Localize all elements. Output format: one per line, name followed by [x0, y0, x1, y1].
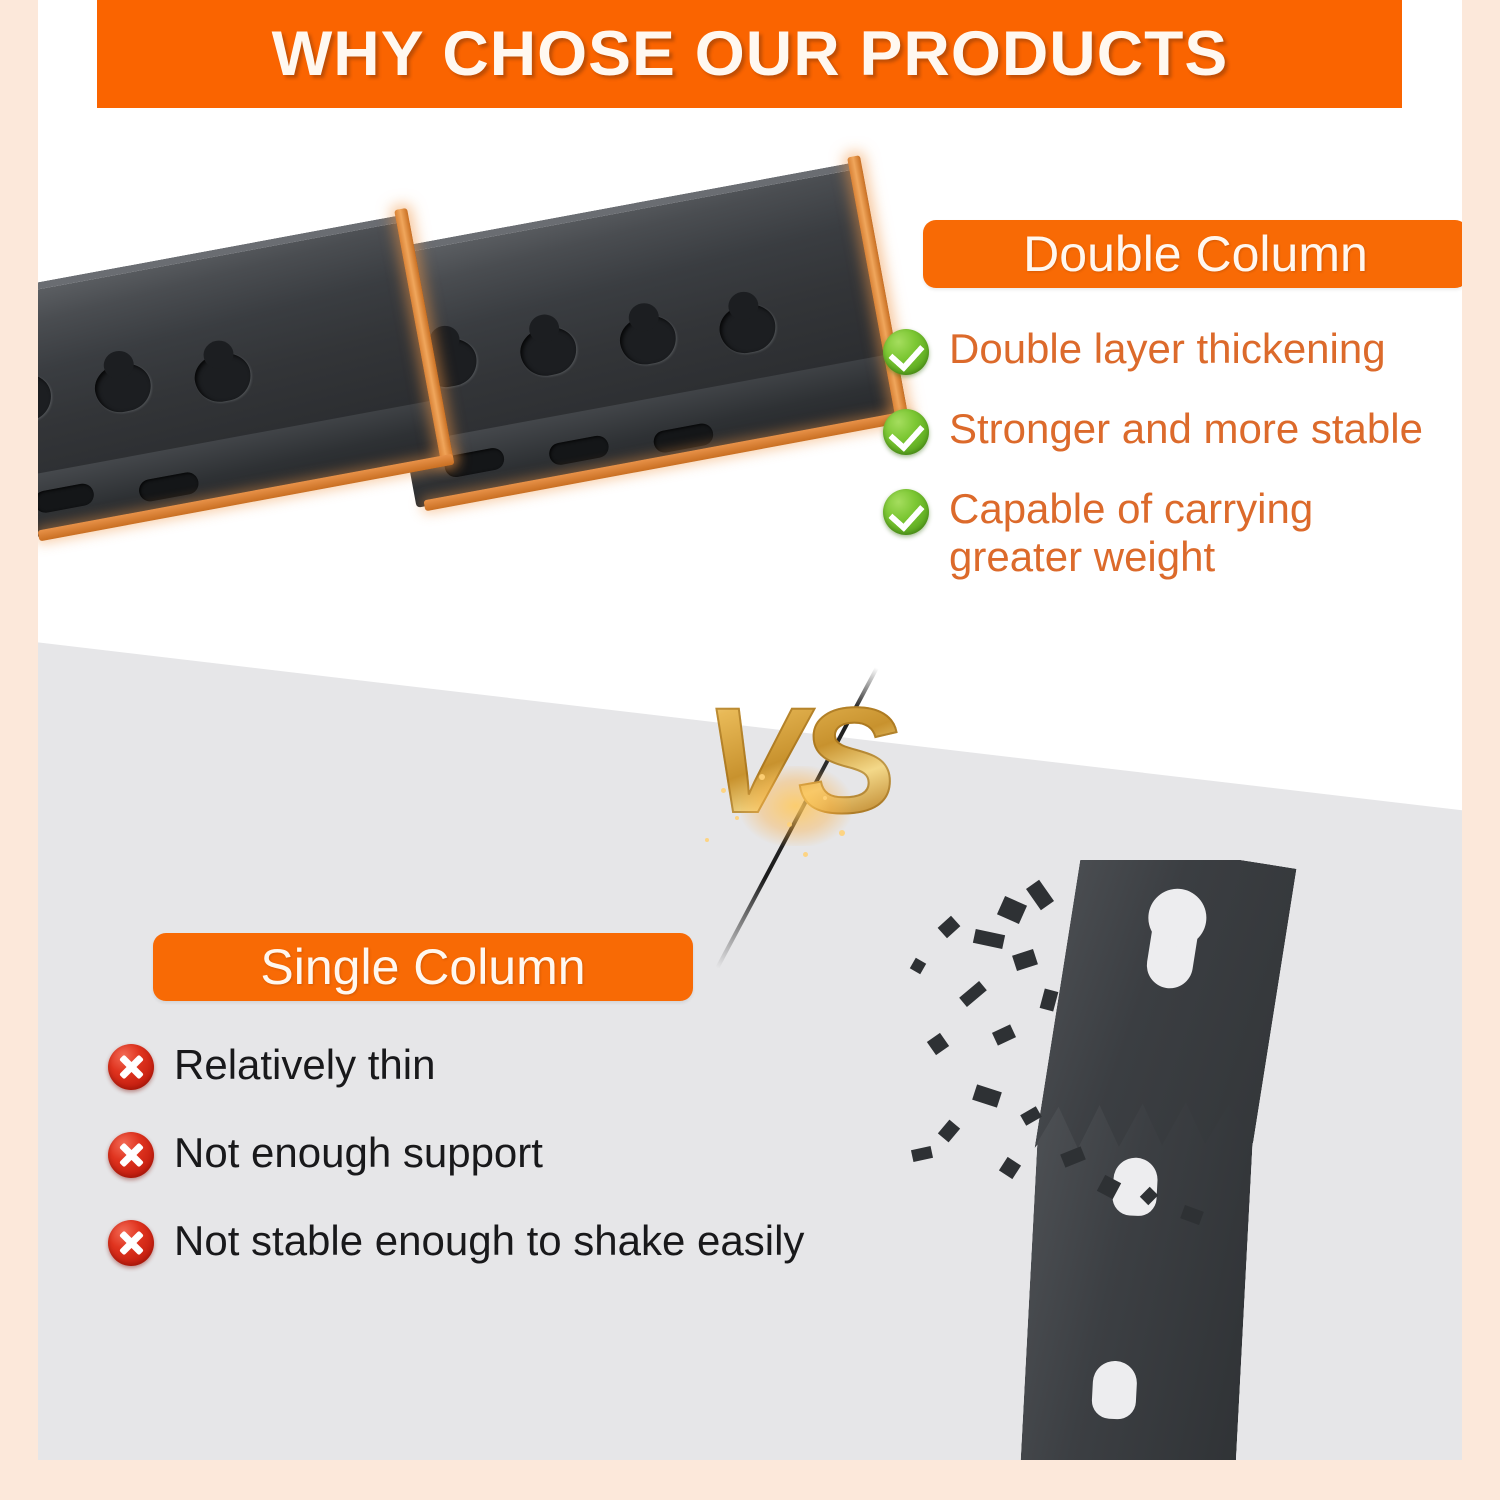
keyhole-slot — [616, 311, 680, 368]
list-item-label: Double layer thickening — [949, 325, 1386, 373]
keyhole-slot — [91, 359, 155, 416]
steel-beam-front — [38, 214, 454, 538]
debris-fragment — [999, 1157, 1021, 1179]
x-circle-icon — [108, 1044, 154, 1090]
spark-particle — [839, 830, 845, 836]
lip-slot — [38, 481, 96, 514]
x-circle-icon — [108, 1132, 154, 1178]
badge-double-column: Double Column — [923, 220, 1462, 288]
lip-slot — [137, 470, 200, 503]
debris-fragment — [938, 1120, 960, 1143]
list-item: Stronger and more stable — [883, 405, 1462, 455]
white-canvas: VS Double Column Single Column Double la… — [38, 0, 1462, 1460]
versus-badge: VS — [683, 670, 913, 900]
header-banner: WHY CHOSE OUR PRODUCTS — [97, 0, 1402, 108]
single-column-drawbacks-list: Relatively thin Not enough support Not s… — [108, 1040, 908, 1304]
debris-fragment — [973, 929, 1005, 949]
list-item: Relatively thin — [108, 1040, 908, 1090]
debris-fragment — [911, 1146, 933, 1162]
spark-particle — [721, 788, 726, 793]
debris-fragment — [938, 916, 961, 938]
list-item-label: Not stable enough to shake easily — [174, 1216, 804, 1266]
versus-label: VS — [683, 670, 913, 850]
debris-fragment — [1012, 949, 1038, 971]
badge-single-column: Single Column — [153, 933, 693, 1001]
infographic-root: VS Double Column Single Column Double la… — [0, 0, 1500, 1500]
list-item: Double layer thickening — [883, 325, 1462, 375]
keyhole-slot — [516, 323, 580, 380]
list-item: Not enough support — [108, 1128, 908, 1178]
post-lower-fragment — [1020, 1095, 1254, 1460]
double-column-benefits-list: Double layer thickening Stronger and mor… — [883, 325, 1462, 611]
check-circle-icon — [883, 489, 929, 535]
lip-slot — [547, 434, 610, 467]
spark-particle — [803, 852, 808, 857]
badge-double-column-label: Double Column — [1023, 225, 1368, 283]
keyhole-slot — [716, 300, 780, 357]
list-item-label: Relatively thin — [174, 1040, 435, 1090]
debris-fragment — [992, 1024, 1016, 1045]
debris-fragment — [910, 958, 926, 974]
broken-single-column-post-photo — [882, 860, 1442, 1460]
debris-fragment — [1020, 1106, 1042, 1125]
spark-particle — [759, 774, 765, 780]
spark-particle — [787, 822, 792, 827]
page-title: WHY CHOSE OUR PRODUCTS — [271, 18, 1228, 90]
double-column-steel-beam-photo — [38, 130, 858, 650]
list-item: Capable of carrying greater weight — [883, 485, 1462, 581]
debris-fragment — [927, 1033, 949, 1055]
debris-fragment — [959, 981, 987, 1007]
spark-particle — [705, 838, 709, 842]
keyhole-slot — [38, 369, 55, 426]
debris-fragment — [1026, 880, 1054, 910]
keyhole-slot — [1091, 1360, 1138, 1420]
spark-particle — [823, 796, 827, 800]
keyhole-slot — [191, 349, 255, 406]
x-circle-icon — [108, 1220, 154, 1266]
list-item-label: Not enough support — [174, 1128, 543, 1178]
list-item-label: Stronger and more stable — [949, 405, 1423, 453]
debris-fragment — [1040, 989, 1059, 1012]
spark-particle — [735, 816, 739, 820]
check-circle-icon — [883, 409, 929, 455]
debris-fragment — [972, 1084, 1002, 1107]
keyhole-slot — [1144, 890, 1204, 992]
check-circle-icon — [883, 329, 929, 375]
list-item-label: Capable of carrying greater weight — [949, 485, 1313, 581]
badge-single-column-label: Single Column — [260, 938, 585, 996]
debris-fragment — [997, 896, 1027, 924]
list-item: Not stable enough to shake easily — [108, 1216, 908, 1266]
